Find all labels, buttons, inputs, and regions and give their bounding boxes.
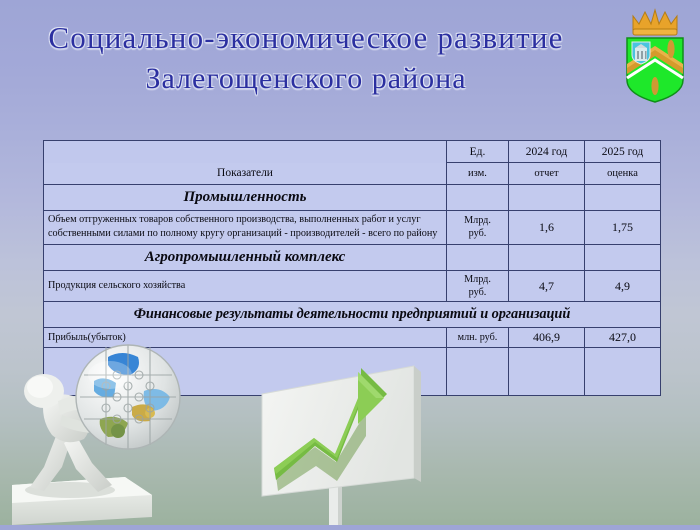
section-title-agriculture: Агропромышленный комплекс [44, 244, 447, 270]
title-line-1: Социально-экономическое развитие [0, 18, 612, 59]
row-value-2024: 1,6 [509, 211, 585, 245]
header-2024-line2: отчет [509, 163, 585, 185]
header-indicators-label: Показатели [44, 163, 447, 185]
row-unit-line2: руб. [469, 287, 487, 298]
header-2025-line1: 2025 год [585, 141, 661, 163]
row-value-2025: 4,9 [585, 270, 661, 302]
section-filler [447, 185, 509, 211]
section-header-row: Промышленность [44, 185, 661, 211]
empty-cell [509, 348, 585, 396]
empty-cell [447, 348, 509, 396]
coat-of-arms-icon [613, 2, 697, 106]
section-filler [585, 185, 661, 211]
row-unit: Млрд. руб. [447, 211, 509, 245]
row-label: Объем отгруженных товаров собственного п… [44, 211, 447, 245]
empty-cell [585, 348, 661, 396]
title-line-2: Залегощенского района [0, 59, 612, 99]
section-filler [509, 244, 585, 270]
header-2025-line2: оценка [585, 163, 661, 185]
table-row: Объем отгруженных товаров собственного п… [44, 211, 661, 245]
header-2024-line1: 2024 год [509, 141, 585, 163]
row-unit-line1: Млрд. [464, 215, 491, 226]
section-title-financial-results: Финансовые результаты деятельности предп… [44, 302, 661, 328]
row-value-2025: 427,0 [585, 328, 661, 348]
row-unit: млн. руб. [447, 328, 509, 348]
section-header-row: Финансовые результаты деятельности предп… [44, 302, 661, 328]
table-row: Продукция сельского хозяйства Млрд. руб.… [44, 270, 661, 302]
row-value-2024: 406,9 [509, 328, 585, 348]
section-filler [447, 244, 509, 270]
section-title-industry: Промышленность [44, 185, 447, 211]
row-value-2025: 1,75 [585, 211, 661, 245]
section-header-row: Агропромышленный комплекс [44, 244, 661, 270]
table-header-row-2: Показатели изм. отчет оценка [44, 163, 661, 185]
row-unit-line2: руб. [469, 228, 487, 239]
header-indicators-spacer [44, 141, 447, 163]
figure-with-globe-image [0, 335, 440, 525]
row-unit-line1: Млрд. [464, 274, 491, 285]
row-unit: Млрд. руб. [447, 270, 509, 302]
section-filler [585, 244, 661, 270]
table-header-row-1: Ед. 2024 год 2025 год [44, 141, 661, 163]
header-unit-line1: Ед. [447, 141, 509, 163]
page-title: Социально-экономическое развитие Залегощ… [0, 18, 612, 99]
header-unit-line2: изм. [447, 163, 509, 185]
row-value-2024: 4,7 [509, 270, 585, 302]
section-filler [509, 185, 585, 211]
row-label: Продукция сельского хозяйства [44, 270, 447, 302]
slide: Социально-экономическое развитие Залегощ… [0, 0, 700, 525]
